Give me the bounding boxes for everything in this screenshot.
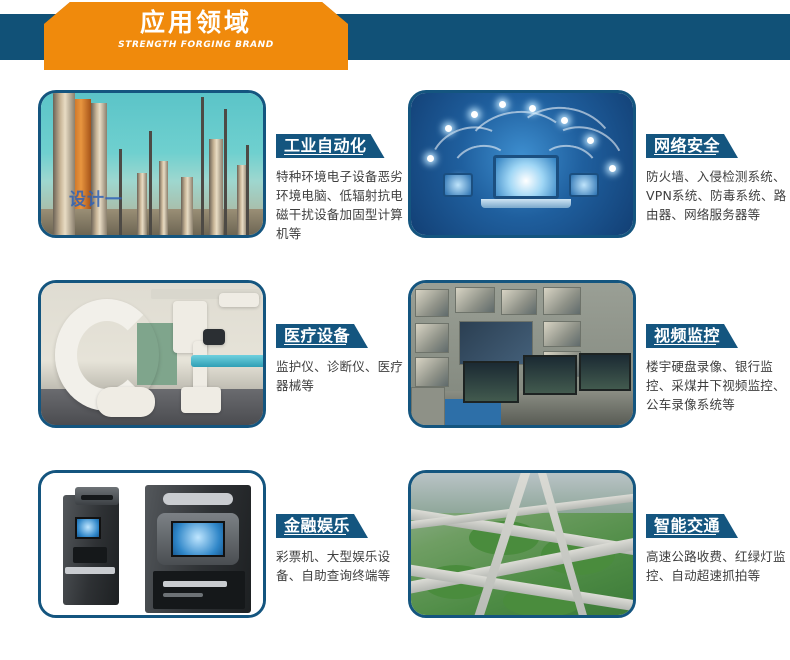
card-smart-transport[interactable]: 智能交通 高速公路收费、红绿灯监控、自动超速抓拍等 [408, 470, 790, 618]
card-description: 楼宇硬盘录像、银行监控、采煤井下视频监控、公车录像系统等 [646, 357, 790, 414]
card-title-badge: 医疗设备 [276, 324, 368, 348]
card-info: 网络安全 防火墙、入侵检测系统、VPN系统、防毒系统、路由器、网络服务器等 [646, 90, 790, 224]
card-finance-entertainment[interactable]: 金融娱乐 彩票机、大型娱乐设备、自助查询终端等 [38, 470, 406, 618]
card-industrial-automation[interactable]: 设计一 工业自动化 特种环境电子设备恶劣环境电脑、低辐射抗电磁干扰设备加固型计算… [38, 90, 406, 243]
card-info: 金融娱乐 彩票机、大型娱乐设备、自助查询终端等 [276, 470, 406, 585]
badge-underline [284, 344, 346, 345]
card-title-badge: 视频监控 [646, 324, 738, 348]
card-title-badge: 智能交通 [646, 514, 738, 538]
card-description: 监护仪、诊断仪、医疗器械等 [276, 357, 406, 395]
badge-underline [284, 154, 363, 155]
page-title: 应用领域 [44, 8, 348, 38]
badge-underline [284, 534, 346, 535]
card-title-badge: 网络安全 [646, 134, 738, 158]
card-description: 彩票机、大型娱乐设备、自助查询终端等 [276, 547, 406, 585]
card-info: 医疗设备 监护仪、诊断仪、医疗器械等 [276, 280, 406, 395]
refinery-photo: 设计一 [38, 90, 266, 238]
image-watermark: 设计一 [69, 185, 123, 210]
card-title: 金融娱乐 [284, 516, 350, 535]
application-fields-grid: 设计一 工业自动化 特种环境电子设备恶劣环境电脑、低辐射抗电磁干扰设备加固型计算… [0, 72, 790, 660]
card-title: 视频监控 [654, 326, 720, 345]
network-globe-photo [408, 90, 636, 238]
page-subtitle: STRENGTH FORGING BRAND [44, 40, 348, 50]
badge-underline [654, 154, 716, 155]
card-title: 医疗设备 [284, 326, 350, 345]
card-title: 工业自动化 [284, 136, 367, 155]
card-title: 网络安全 [654, 136, 720, 155]
card-title-badge: 工业自动化 [276, 134, 385, 158]
page-header: 应用领域 STRENGTH FORGING BRAND [0, 0, 790, 72]
card-description: 防火墙、入侵检测系统、VPN系统、防毒系统、路由器、网络服务器等 [646, 167, 790, 224]
card-title-badge: 金融娱乐 [276, 514, 368, 538]
card-info: 工业自动化 特种环境电子设备恶劣环境电脑、低辐射抗电磁干扰设备加固型计算机等 [276, 90, 406, 243]
highway-interchange-photo [408, 470, 636, 618]
badge-underline [654, 534, 716, 535]
card-description: 高速公路收费、红绿灯监控、自动超速抓拍等 [646, 547, 790, 585]
card-info: 视频监控 楼宇硬盘录像、银行监控、采煤井下视频监控、公车录像系统等 [646, 280, 790, 414]
cctv-control-room-photo [408, 280, 636, 428]
card-description: 特种环境电子设备恶劣环境电脑、低辐射抗电磁干扰设备加固型计算机等 [276, 167, 406, 243]
card-video-surveillance[interactable]: 视频监控 楼宇硬盘录像、银行监控、采煤井下视频监控、公车录像系统等 [408, 280, 790, 428]
medical-carm-photo [38, 280, 266, 428]
card-medical-equipment[interactable]: 医疗设备 监护仪、诊断仪、医疗器械等 [38, 280, 406, 428]
atm-kiosk-photo [38, 470, 266, 618]
badge-underline [654, 344, 716, 345]
card-network-security[interactable]: 网络安全 防火墙、入侵检测系统、VPN系统、防毒系统、路由器、网络服务器等 [408, 90, 790, 238]
card-title: 智能交通 [654, 516, 720, 535]
card-info: 智能交通 高速公路收费、红绿灯监控、自动超速抓拍等 [646, 470, 790, 585]
